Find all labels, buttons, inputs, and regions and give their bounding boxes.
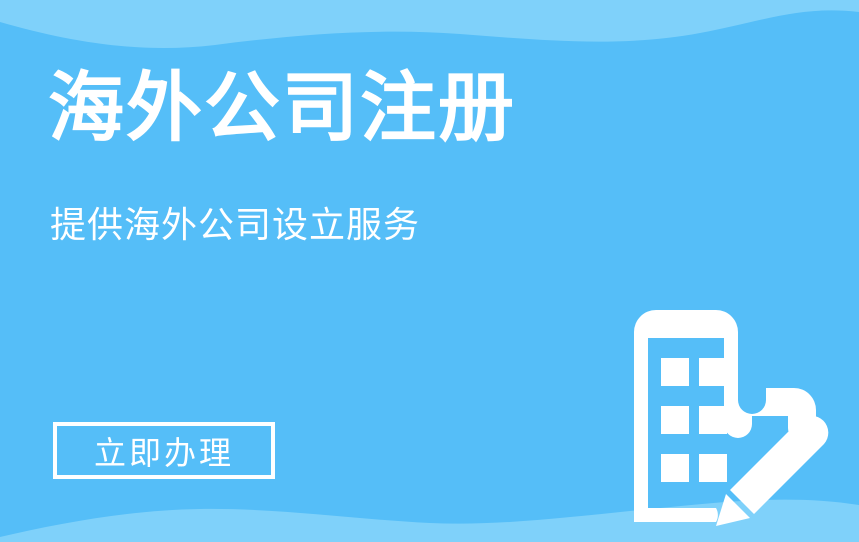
building-with-pencil-icon	[604, 300, 830, 532]
page-title: 海外公司注册	[48, 68, 516, 150]
page-subtitle: 提供海外公司设立服务	[50, 203, 420, 246]
building-window	[661, 406, 689, 434]
building-window	[661, 454, 689, 482]
apply-now-button[interactable]: 立即办理	[53, 422, 275, 479]
overseas-company-registration-banner: 海外公司注册 提供海外公司设立服务 立即办理	[0, 0, 859, 542]
building-window	[699, 406, 727, 434]
building-window	[699, 358, 727, 386]
building-window	[661, 358, 689, 386]
building-window	[699, 454, 727, 482]
